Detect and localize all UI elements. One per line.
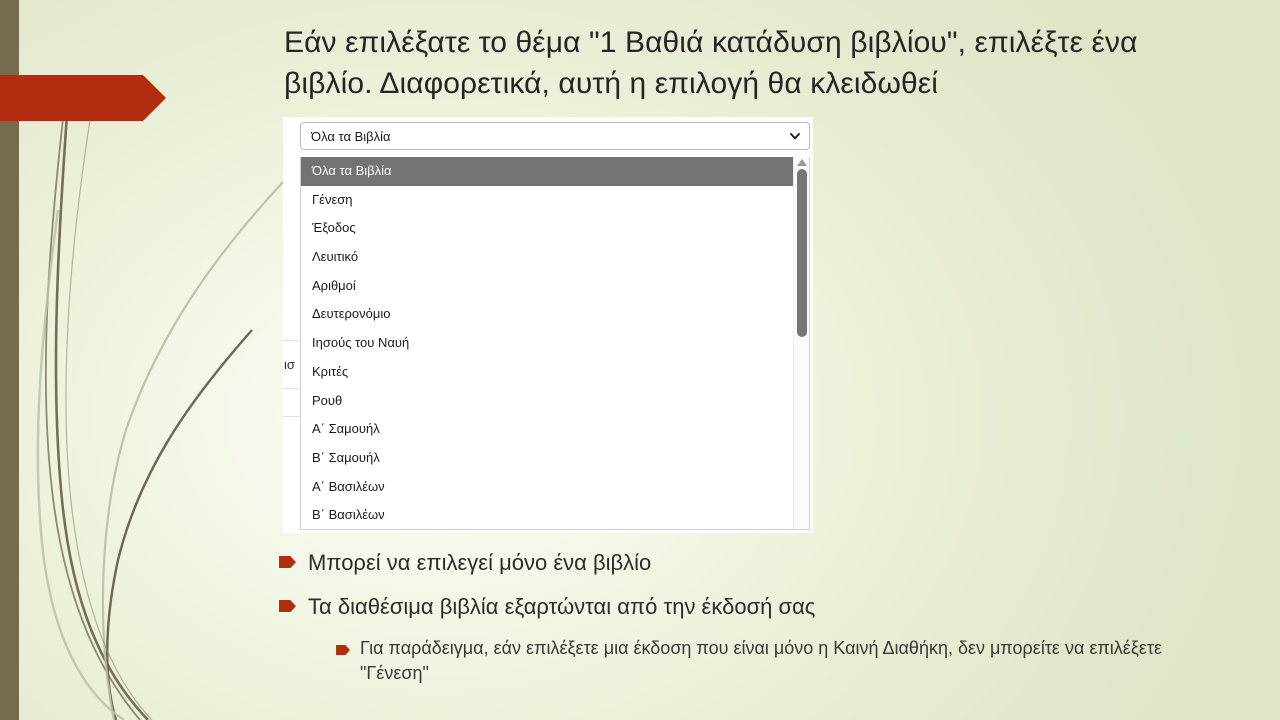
option-item[interactable]: Αριθμοί (301, 272, 809, 301)
options-scrollbar[interactable] (793, 157, 809, 529)
bullet-item: Τα διαθέσιμα βιβλία εξαρτώνται από την έ… (279, 592, 1169, 622)
option-item[interactable]: Κριτές (301, 358, 809, 387)
bullet-item: Μπορεί να επιλεγεί μόνο ένα βιβλίο (279, 548, 1169, 578)
pentagon-bullet-icon (336, 642, 350, 660)
slide-canvas: Εάν επιλέξατε το θέμα "1 Βαθιά κατάδυση … (0, 0, 1280, 720)
panel-clipped-text: ισ (284, 357, 299, 373)
scrollbar-thumb[interactable] (797, 169, 807, 337)
bullet-text: Τα διαθέσιμα βιβλία εξαρτώνται από την έ… (308, 592, 815, 622)
bullet-text: Για παράδειγμα, εάν επιλέξετε μια έκδοση… (360, 636, 1169, 686)
bullet-list: Μπορεί να επιλεγεί μόνο ένα βιβλίοΤα δια… (279, 548, 1169, 686)
banner-arrow-shape (0, 75, 166, 121)
option-item[interactable]: Δευτερονόμιο (301, 300, 809, 329)
option-item[interactable]: Ιησούς του Ναυή (301, 329, 809, 358)
pentagon-bullet-icon (279, 599, 296, 617)
option-item[interactable]: Α΄ Βασιλέων (301, 473, 809, 502)
option-item[interactable]: Α΄ Σαμουήλ (301, 415, 809, 444)
book-select-control[interactable]: Όλα τα Βιβλία (300, 122, 810, 150)
select-selected-value: Όλα τα Βιβλία (311, 129, 789, 144)
triangle-up-icon[interactable] (797, 159, 807, 166)
option-item[interactable]: Ρουθ (301, 387, 809, 416)
option-item[interactable]: Όλα τα Βιβλία (301, 157, 809, 186)
bullet-text: Μπορεί να επιλεγεί μόνο ένα βιβλίο (308, 548, 651, 578)
option-item[interactable]: Β΄ Βασιλέων (301, 501, 809, 530)
option-item[interactable]: Β΄ Σαμουήλ (301, 444, 809, 473)
bullet-item: Για παράδειγμα, εάν επιλέξετε μια έκδοση… (336, 636, 1169, 686)
slide-title: Εάν επιλέξατε το θέμα "1 Βαθιά κατάδυση … (284, 22, 1164, 104)
option-item[interactable]: Λευιτικό (301, 243, 809, 272)
pentagon-bullet-icon (279, 555, 296, 573)
chevron-down-icon (789, 130, 801, 142)
book-select-options-list[interactable]: Όλα τα ΒιβλίαΓένεσηΈξοδοςΛευιτικόΑριθμοί… (300, 157, 810, 530)
option-item[interactable]: Έξοδος (301, 214, 809, 243)
options-scroll-area[interactable]: Όλα τα ΒιβλίαΓένεσηΈξοδοςΛευιτικόΑριθμοί… (301, 157, 809, 529)
option-item[interactable]: Γένεση (301, 186, 809, 215)
